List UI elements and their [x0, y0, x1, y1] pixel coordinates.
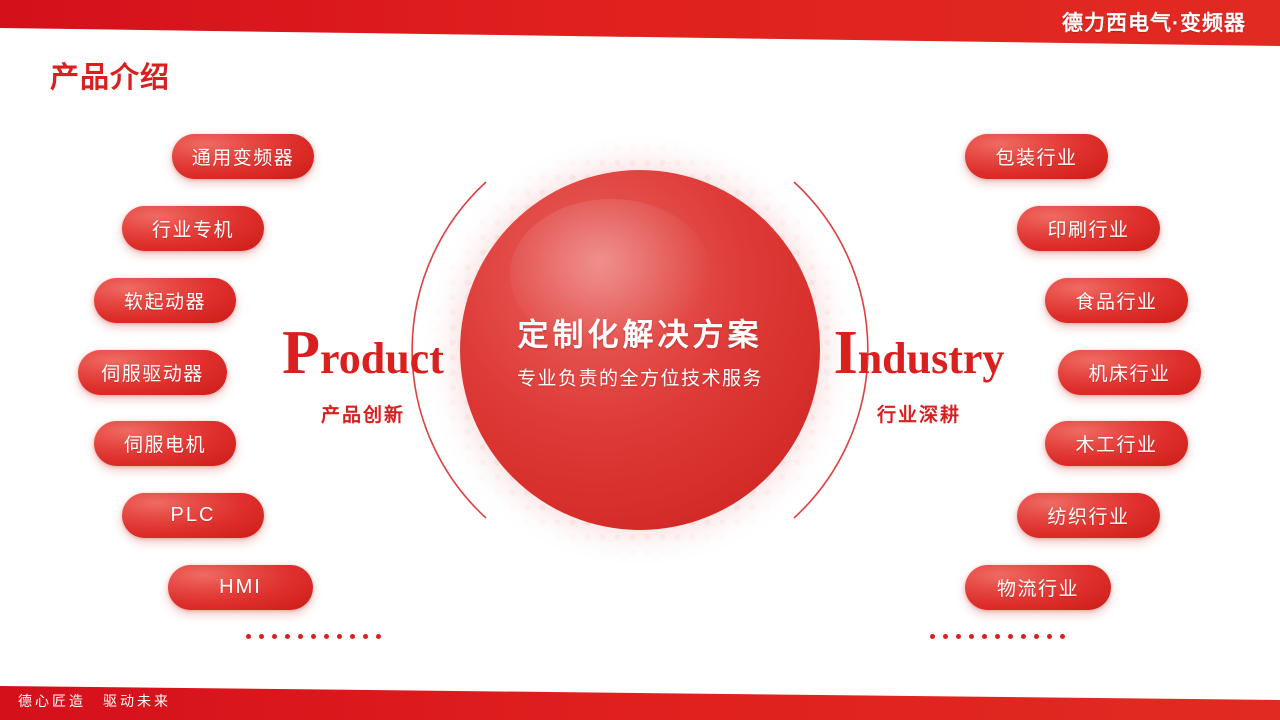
product-pill-6[interactable]: HMI [168, 565, 313, 610]
industry-pill-4[interactable]: 木工行业 [1045, 421, 1188, 466]
pill-label: 软起动器 [124, 287, 206, 314]
dot [995, 634, 1000, 639]
pill-label: 机床行业 [1088, 359, 1170, 386]
dot [272, 634, 277, 639]
dot [298, 634, 303, 639]
pill-label: 印刷行业 [1047, 215, 1129, 242]
left-section-heading: Product 产品创新 [268, 322, 458, 427]
slide-canvas: 德力西电气·变频器 产品介绍 [0, 0, 1280, 720]
sphere-title: 定制化解决方案 [482, 310, 798, 355]
left-heading-cn: 产品创新 [268, 400, 458, 427]
pill-label: 行业专机 [152, 215, 234, 242]
dot [1060, 634, 1065, 639]
product-pill-3[interactable]: 伺服驱动器 [78, 350, 227, 395]
sphere-text-block: 定制化解决方案 专业负责的全方位技术服务 [460, 310, 820, 391]
brand-logo-text: 德力西电气·变频器 [1062, 7, 1246, 37]
pill-label: HMI [219, 576, 262, 599]
dot [1047, 634, 1052, 639]
right-heading-capital: I [834, 319, 858, 387]
pill-label: 伺服驱动器 [101, 359, 204, 386]
pill-label: 木工行业 [1075, 430, 1157, 457]
left-heading-en: Product [268, 322, 458, 384]
dot [259, 634, 264, 639]
dot [982, 634, 987, 639]
pill-label: 物流行业 [997, 574, 1079, 601]
pill-label: 包装行业 [995, 143, 1077, 170]
left-heading-rest: roduct [320, 334, 444, 383]
pill-label: 伺服电机 [124, 430, 206, 457]
center-sphere: 定制化解决方案 专业负责的全方位技术服务 [460, 170, 820, 530]
product-pill-5[interactable]: PLC [122, 493, 264, 538]
right-section-heading: Industry 行业深耕 [824, 322, 1014, 427]
pill-label: 食品行业 [1075, 287, 1157, 314]
industry-pill-1[interactable]: 印刷行业 [1017, 206, 1160, 251]
industry-pill-3[interactable]: 机床行业 [1058, 350, 1201, 395]
pill-label: PLC [171, 504, 216, 527]
left-dot-row [246, 634, 381, 639]
dot [969, 634, 974, 639]
right-heading-cn: 行业深耕 [824, 400, 1014, 427]
industry-pill-6[interactable]: 物流行业 [965, 565, 1111, 610]
dot [930, 634, 935, 639]
product-pill-2[interactable]: 软起动器 [94, 278, 236, 323]
product-pill-4[interactable]: 伺服电机 [94, 421, 236, 466]
dot [1034, 634, 1039, 639]
dot [285, 634, 290, 639]
dot [246, 634, 251, 639]
footer-slogan: 德心匠造 驱动未来 [18, 691, 171, 711]
dot [311, 634, 316, 639]
dot [337, 634, 342, 639]
product-pill-1[interactable]: 行业专机 [122, 206, 264, 251]
dot [1021, 634, 1026, 639]
dot [376, 634, 381, 639]
pill-label: 通用变频器 [192, 143, 295, 170]
industry-pill-2[interactable]: 食品行业 [1045, 278, 1188, 323]
industry-pill-0[interactable]: 包装行业 [965, 134, 1108, 179]
right-heading-en: Industry [824, 322, 1014, 384]
sphere-subtitle: 专业负责的全方位技术服务 [482, 364, 798, 391]
page-title: 产品介绍 [50, 54, 170, 96]
dot [956, 634, 961, 639]
dot [350, 634, 355, 639]
dot [324, 634, 329, 639]
product-pill-0[interactable]: 通用变频器 [172, 134, 314, 179]
right-heading-rest: ndustry [858, 334, 1005, 383]
dot [363, 634, 368, 639]
left-heading-capital: P [282, 319, 320, 387]
bottom-banner [0, 676, 1280, 720]
dot [943, 634, 948, 639]
right-dot-row [930, 634, 1065, 639]
pill-label: 纺织行业 [1047, 502, 1129, 529]
dot [1008, 634, 1013, 639]
industry-pill-5[interactable]: 纺织行业 [1017, 493, 1160, 538]
